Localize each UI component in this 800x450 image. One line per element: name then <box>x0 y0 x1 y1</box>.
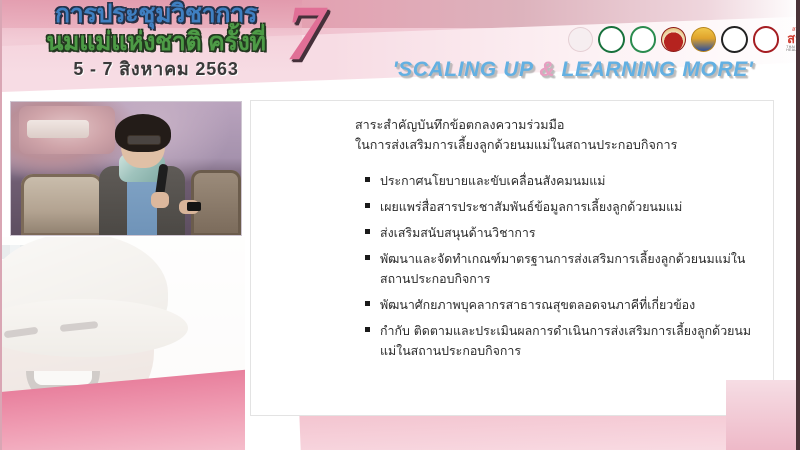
tagline-part-2: LEARNING MORE' <box>555 58 753 81</box>
list-item: กำกับ ติดตามและประเมินผลการดำเนินการส่งเ… <box>365 321 765 360</box>
decorative-bottom-right-wedge <box>726 380 796 450</box>
list-item: ส่งเสริมสนับสนุนด้านวิชาการ <box>365 223 765 243</box>
title-line-2: นมแม่แห่งชาติ ครั้งที่ <box>16 29 296 55</box>
conference-date: 5 - 7 สิงหาคม 2563 <box>16 60 296 80</box>
speaker-video-thumbnail <box>10 101 242 236</box>
black-circle-institute-emblem-icon <box>721 26 748 53</box>
red-circle-university-emblem-icon <box>753 26 780 53</box>
title-line-1: การประชุมวิชาการ <box>16 2 296 27</box>
slide-header-banner: การประชุมวิชาการ นมแม่แห่งชาติ ครั้งที่ … <box>2 0 800 92</box>
list-item: ประกาศนโยบายและขับเคลื่อนสังคมนมแม่ <box>365 171 765 191</box>
bullet-square-icon <box>365 301 370 306</box>
list-item: พัฒนาและจัดทำเกณฑ์มาตรฐานการส่งเสริมการเ… <box>365 249 765 288</box>
list-item-label: ส่งเสริมสนับสนุนด้านวิชาการ <box>380 225 536 240</box>
conference-title-block: การประชุมวิชาการ นมแม่แห่งชาติ ครั้งที่ … <box>16 2 296 80</box>
bullet-square-icon <box>365 177 370 182</box>
sss-logo-bottom: THAI HEALTH <box>786 46 800 53</box>
tagline-ampersand: & <box>539 58 555 81</box>
list-item-label: กำกับ ติดตามและประเมินผลการดำเนินการส่งเ… <box>380 323 751 358</box>
intro-line-1: สาระสำคัญบันทึกข้อตกลงความร่วมมือ <box>355 115 765 135</box>
list-item-label: พัฒนาศักยภาพบุคลากรสาธารณสุขตลอดจนภาคีที… <box>380 297 695 312</box>
department-of-health-emblem-icon <box>630 26 657 53</box>
speaker-hand-left <box>151 192 169 208</box>
speaker-hair <box>115 114 171 152</box>
conference-tagline: 'SCALING UP & LEARNING MORE' <box>358 58 788 82</box>
royal-crest-emblem-icon <box>691 27 716 52</box>
royal-patronage-emblem-icon <box>568 27 593 52</box>
bullet-square-icon <box>365 255 370 260</box>
intro-line-2: ในการส่งเสริมการเลี้ยงลูกด้วยนมแม่ในสถาน… <box>355 135 765 155</box>
stage-chair-left <box>21 174 103 236</box>
intro-paragraph: สาระสำคัญบันทึกข้อตกลงความร่วมมือ ในการส… <box>355 115 765 156</box>
thai-health-promotion-foundation-logo-icon: สสส สสส THAI HEALTH <box>786 27 800 53</box>
child-teeth <box>34 371 92 385</box>
partner-logo-row: สสส สสส THAI HEALTH <box>568 26 800 53</box>
list-item-label: เผยแพร่สื่อสารประชาสัมพันธ์ข้อมูลการเลี้… <box>380 199 682 214</box>
presentation-slide: การประชุมวิชาการ นมแม่แห่งชาติ ครั้งที่ … <box>0 0 800 450</box>
backdrop-teeth-graphic <box>27 120 89 138</box>
list-item-label: พัฒนาและจัดทำเกณฑ์มาตรฐานการส่งเสริมการเ… <box>380 251 745 286</box>
presentation-remote <box>187 202 201 211</box>
list-item-label: ประกาศนโยบายและขับเคลื่อนสังคมนมแม่ <box>380 173 605 188</box>
slide-content-panel: สาระสำคัญบันทึกข้อตกลงความร่วมมือ ในการส… <box>250 100 774 416</box>
list-item: พัฒนาศักยภาพบุคลากรสาธารณสุขตลอดจนภาคีที… <box>365 295 765 315</box>
bullet-square-icon <box>365 229 370 234</box>
left-media-column <box>2 97 245 450</box>
speaker-glasses <box>127 135 161 145</box>
commitment-bullet-list: ประกาศนโยบายและขับเคลื่อนสังคมนมแม่ เผยแ… <box>365 171 765 367</box>
sss-logo-mid: สสส <box>787 33 800 46</box>
bullet-square-icon <box>365 327 370 332</box>
government-garuda-emblem-icon <box>661 27 686 52</box>
bullet-square-icon <box>365 203 370 208</box>
tagline-part-1: 'SCALING UP <box>393 58 540 81</box>
ministry-of-public-health-emblem-icon <box>598 26 625 53</box>
list-item: เผยแพร่สื่อสารประชาสัมพันธ์ข้อมูลการเลี้… <box>365 197 765 217</box>
edition-number: 7 <box>286 0 325 72</box>
